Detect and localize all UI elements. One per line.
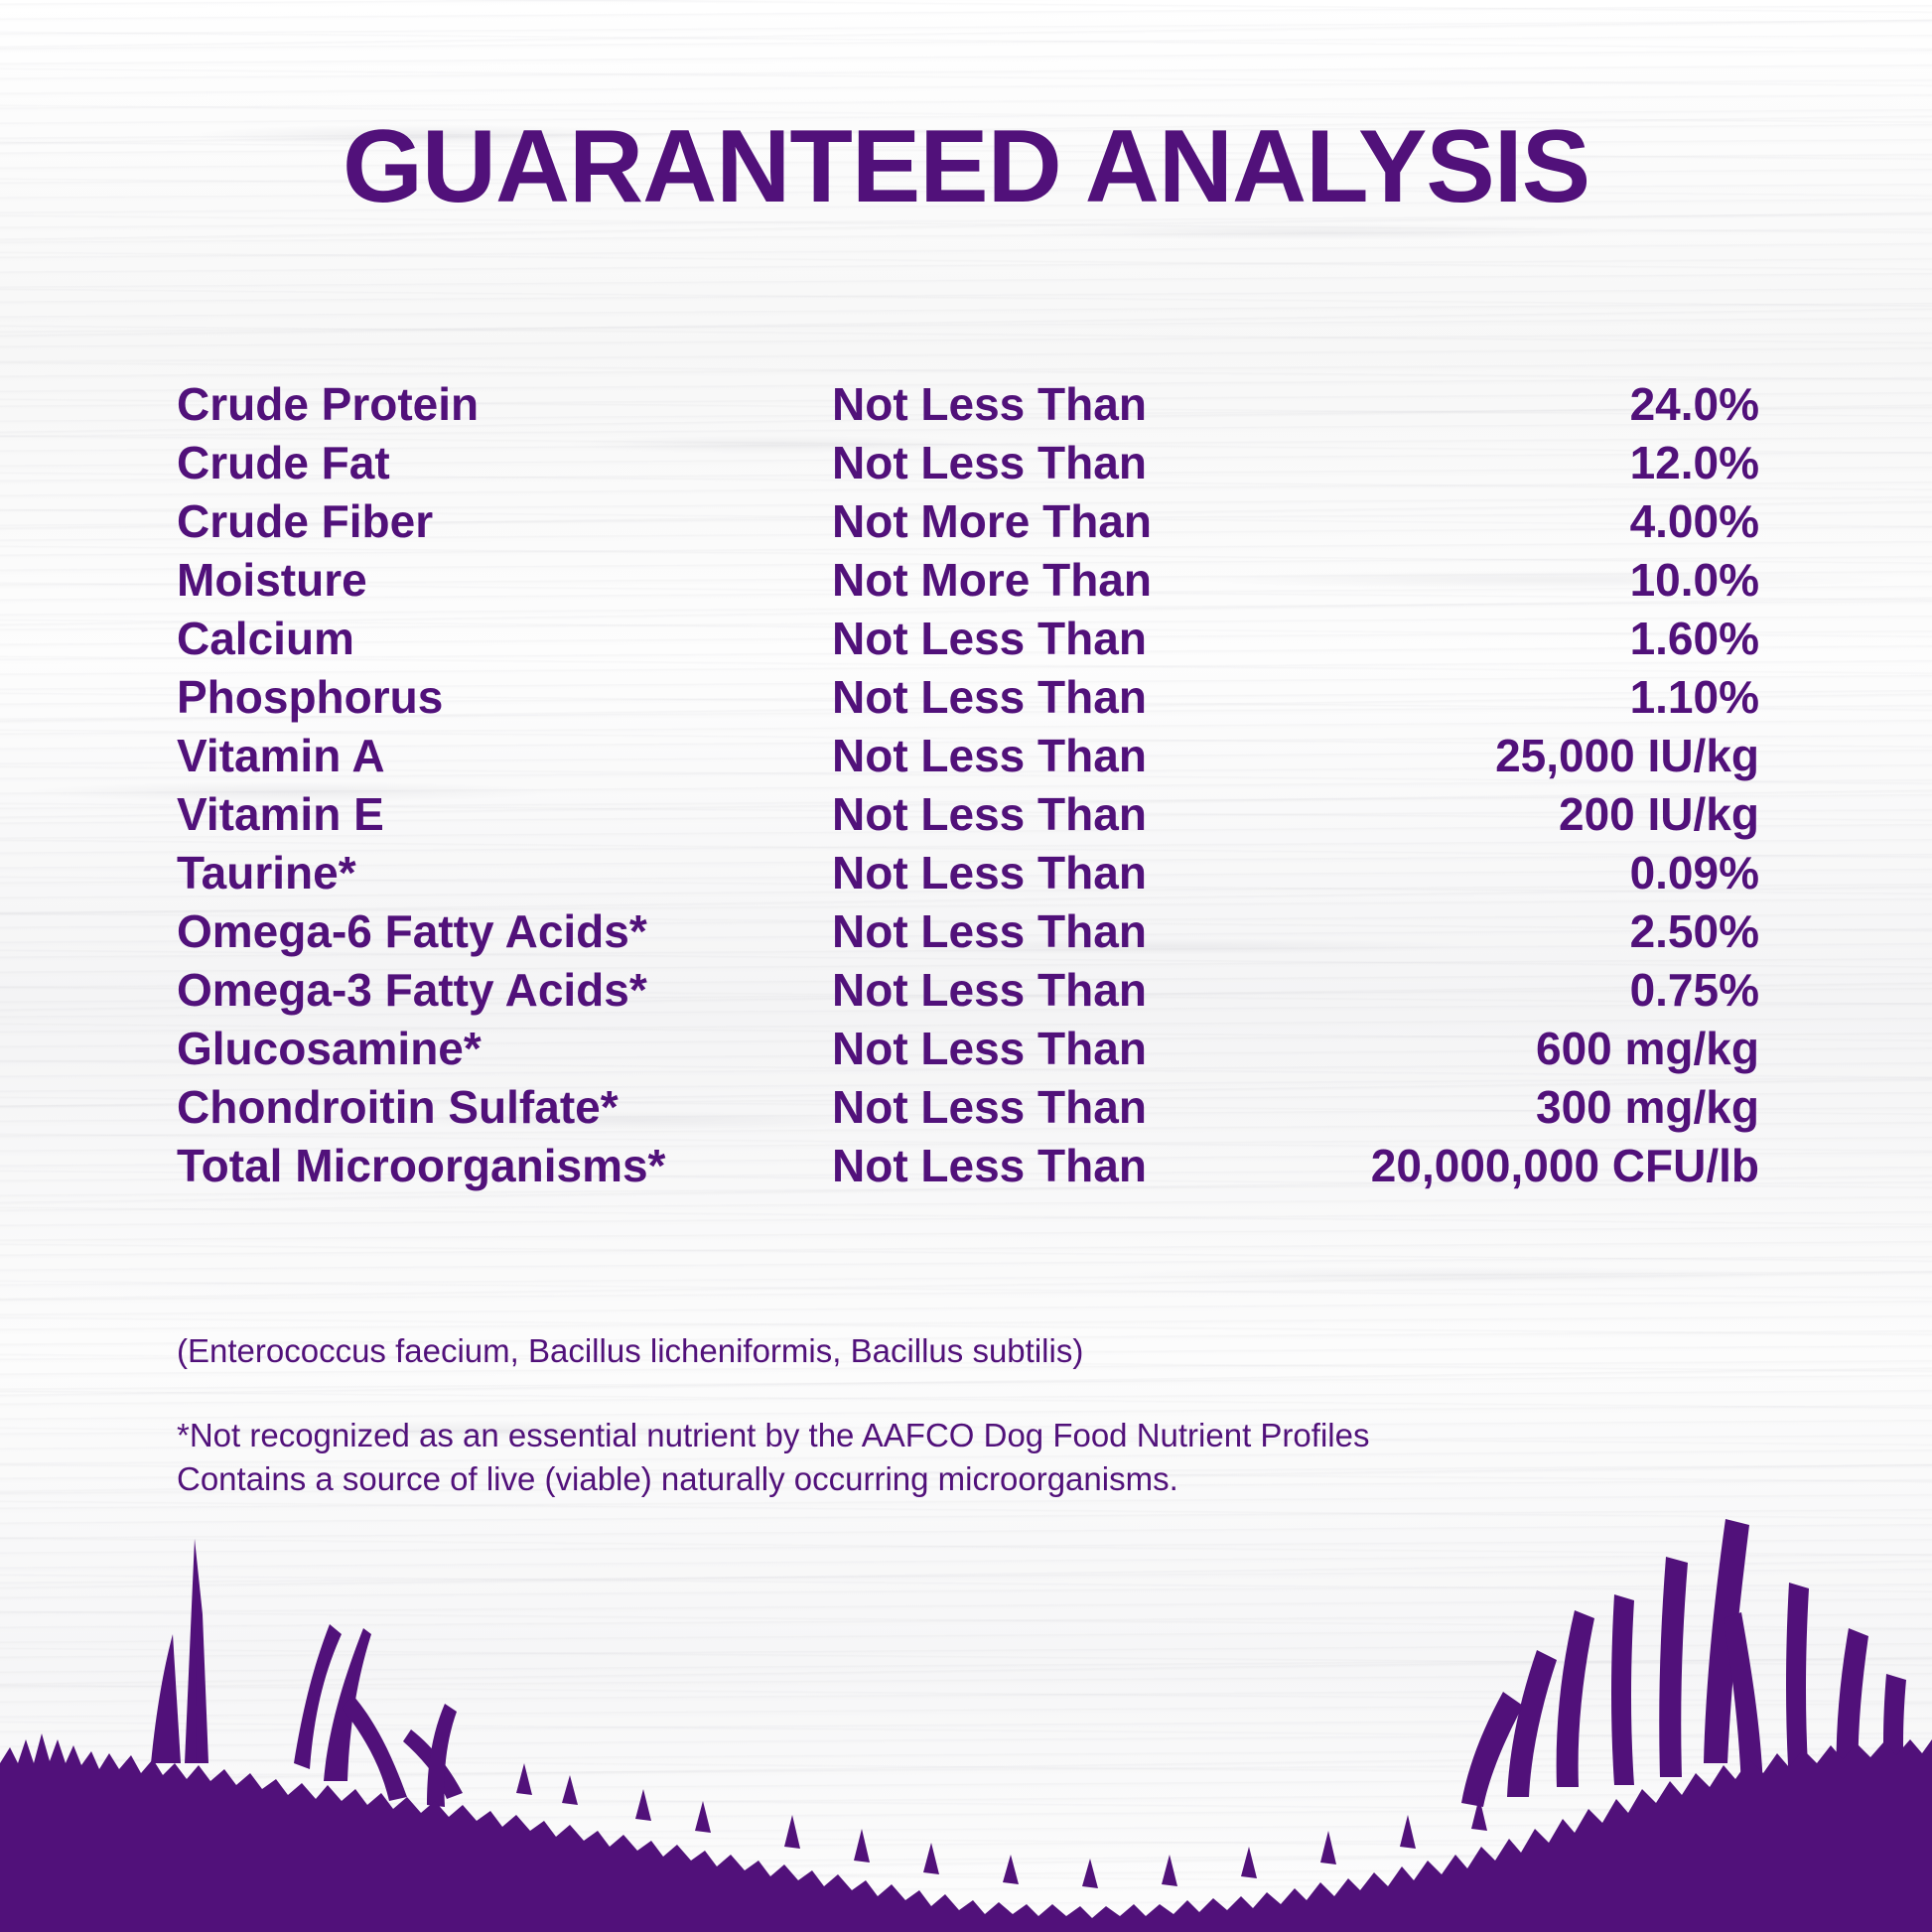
nutrient-qualifier: Not Less Than: [832, 727, 1209, 785]
table-row: Crude FiberNot More Than4.00%: [177, 492, 1759, 551]
table-row: MoistureNot More Than10.0%: [177, 551, 1759, 610]
nutrient-name: Glucosamine*: [177, 1020, 832, 1078]
table-row: Omega-6 Fatty Acids*Not Less Than2.50%: [177, 902, 1759, 961]
table-row: Vitamin ENot Less Than200 IU/kg: [177, 785, 1759, 844]
footnote-line-1: *Not recognized as an essential nutrient…: [177, 1414, 1369, 1457]
microorganism-strains-note: (Enterococcus faecium, Bacillus lichenif…: [177, 1328, 1083, 1374]
nutrient-qualifier: Not Less Than: [832, 1137, 1209, 1195]
guaranteed-analysis-panel: GUARANTEED ANALYSIS Crude ProteinNot Les…: [0, 0, 1932, 1932]
nutrient-name: Crude Fiber: [177, 492, 832, 551]
nutrient-name: Vitamin A: [177, 727, 832, 785]
nutrient-qualifier: Not Less Than: [832, 1020, 1209, 1078]
table-row: Glucosamine*Not Less Than600 mg/kg: [177, 1020, 1759, 1078]
nutrient-value: 600 mg/kg: [1209, 1020, 1759, 1078]
nutrient-qualifier: Not Less Than: [832, 668, 1209, 727]
nutrient-qualifier: Not Less Than: [832, 1078, 1209, 1137]
nutrient-qualifier: Not Less Than: [832, 902, 1209, 961]
nutrient-qualifier: Not Less Than: [832, 961, 1209, 1020]
nutrient-name: Chondroitin Sulfate*: [177, 1078, 832, 1137]
table-row: Taurine*Not Less Than0.09%: [177, 844, 1759, 902]
nutrient-value: 20,000,000 CFU/lb: [1209, 1137, 1759, 1195]
page-title: GUARANTEED ANALYSIS: [0, 115, 1932, 218]
table-row: Chondroitin Sulfate*Not Less Than300 mg/…: [177, 1078, 1759, 1137]
table-row: Crude ProteinNot Less Than24.0%: [177, 375, 1759, 434]
nutrient-qualifier: Not More Than: [832, 551, 1209, 610]
nutrient-value: 1.60%: [1209, 610, 1759, 668]
nutrient-name: Calcium: [177, 610, 832, 668]
nutrient-name: Omega-6 Fatty Acids*: [177, 902, 832, 961]
nutrient-name: Total Microorganisms*: [177, 1137, 832, 1195]
nutrient-value: 25,000 IU/kg: [1209, 727, 1759, 785]
nutrient-name: Crude Protein: [177, 375, 832, 434]
nutrient-name: Vitamin E: [177, 785, 832, 844]
table-row: CalciumNot Less Than1.60%: [177, 610, 1759, 668]
table-row: Omega-3 Fatty Acids*Not Less Than0.75%: [177, 961, 1759, 1020]
nutrient-qualifier: Not Less Than: [832, 375, 1209, 434]
table-row: Crude FatNot Less Than12.0%: [177, 434, 1759, 492]
nutrient-value: 12.0%: [1209, 434, 1759, 492]
guaranteed-analysis-table: Crude ProteinNot Less Than24.0%Crude Fat…: [177, 375, 1759, 1195]
nutrient-name: Crude Fat: [177, 434, 832, 492]
nutrient-value: 0.09%: [1209, 844, 1759, 902]
nutrient-qualifier: Not Less Than: [832, 785, 1209, 844]
nutrient-value: 10.0%: [1209, 551, 1759, 610]
nutrient-name: Omega-3 Fatty Acids*: [177, 961, 832, 1020]
nutrient-qualifier: Not Less Than: [832, 434, 1209, 492]
nutrient-name: Phosphorus: [177, 668, 832, 727]
nutrient-value: 4.00%: [1209, 492, 1759, 551]
nutrient-value: 1.10%: [1209, 668, 1759, 727]
table-row: Vitamin ANot Less Than25,000 IU/kg: [177, 727, 1759, 785]
nutrient-value: 24.0%: [1209, 375, 1759, 434]
nutrient-qualifier: Not Less Than: [832, 844, 1209, 902]
table-row: PhosphorusNot Less Than1.10%: [177, 668, 1759, 727]
nutrient-name: Taurine*: [177, 844, 832, 902]
grass-silhouette-icon: [0, 1465, 1932, 1932]
nutrient-qualifier: Not More Than: [832, 492, 1209, 551]
nutrient-name: Moisture: [177, 551, 832, 610]
table-row: Total Microorganisms*Not Less Than20,000…: [177, 1137, 1759, 1195]
nutrient-qualifier: Not Less Than: [832, 610, 1209, 668]
nutrient-value: 2.50%: [1209, 902, 1759, 961]
nutrient-value: 300 mg/kg: [1209, 1078, 1759, 1137]
nutrient-value: 200 IU/kg: [1209, 785, 1759, 844]
nutrient-value: 0.75%: [1209, 961, 1759, 1020]
